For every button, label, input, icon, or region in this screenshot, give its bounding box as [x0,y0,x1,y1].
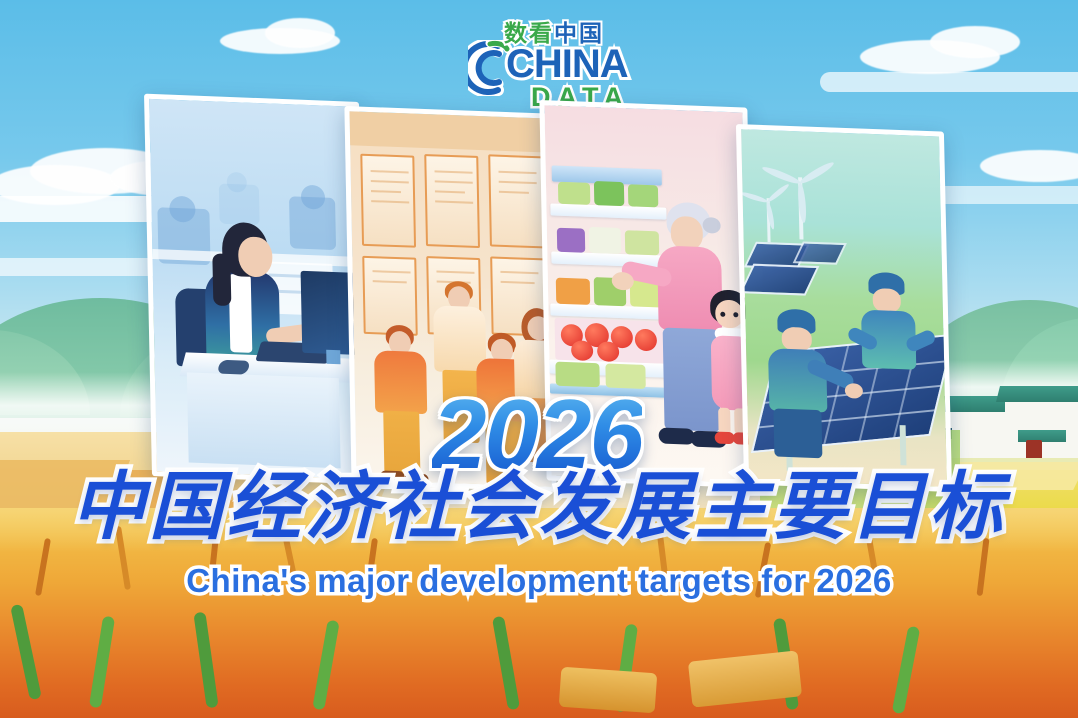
panel-employment-inner [149,99,362,479]
tomato [571,340,593,361]
panel-leg [900,425,907,465]
background-worker [227,172,247,193]
panel-green-energy-inner [741,129,947,487]
page-title-cn: 中国经济社会发展主要目标 [0,470,1078,544]
panel-green-energy[interactable] [736,124,952,492]
page-title-en: China's major development targets for 20… [0,562,1078,600]
child-eye [733,312,738,317]
cloud-shape [265,18,335,48]
child-eye [720,312,725,317]
shoe [659,427,695,444]
produce-item [557,228,585,253]
wheat-leaf [10,604,42,700]
notice-board [488,154,546,248]
house-roof [996,386,1078,402]
solar-worker [854,271,935,404]
hand [612,272,634,291]
background-worker [169,196,196,223]
hair-bun [702,217,720,234]
produce-item [558,182,590,205]
background-worker [301,185,325,210]
wheat-leaf [892,626,921,715]
panel-employment[interactable] [144,94,367,485]
worker-shirt [229,274,253,353]
produce-item [589,227,621,254]
tomato [597,341,619,362]
wheat-leaf [492,616,520,711]
wheat-leaf [89,616,115,709]
produce-item [594,181,624,206]
child-leg [718,408,730,434]
worker-ponytail [212,253,231,306]
straw-bundle [559,667,658,714]
viewer-person [368,324,435,486]
poster-canvas: 数 看 中 国 CHINA DATA 2026 中国经济社会发展主要目标 [0,0,1078,718]
monitor-stand [326,350,340,365]
wheat-leaf [193,612,218,709]
solar-worker [761,308,846,461]
wheat-leaf [312,620,339,711]
notice-board [360,154,416,248]
logo-china-text: CHINA [506,44,628,84]
notice-board [424,154,480,248]
desk-front [187,372,341,468]
produce-item [556,278,590,305]
cloud-shape [980,150,1078,182]
cloud-shape [930,26,1020,58]
cloud-shape [820,72,1078,92]
solar-array [739,264,819,296]
